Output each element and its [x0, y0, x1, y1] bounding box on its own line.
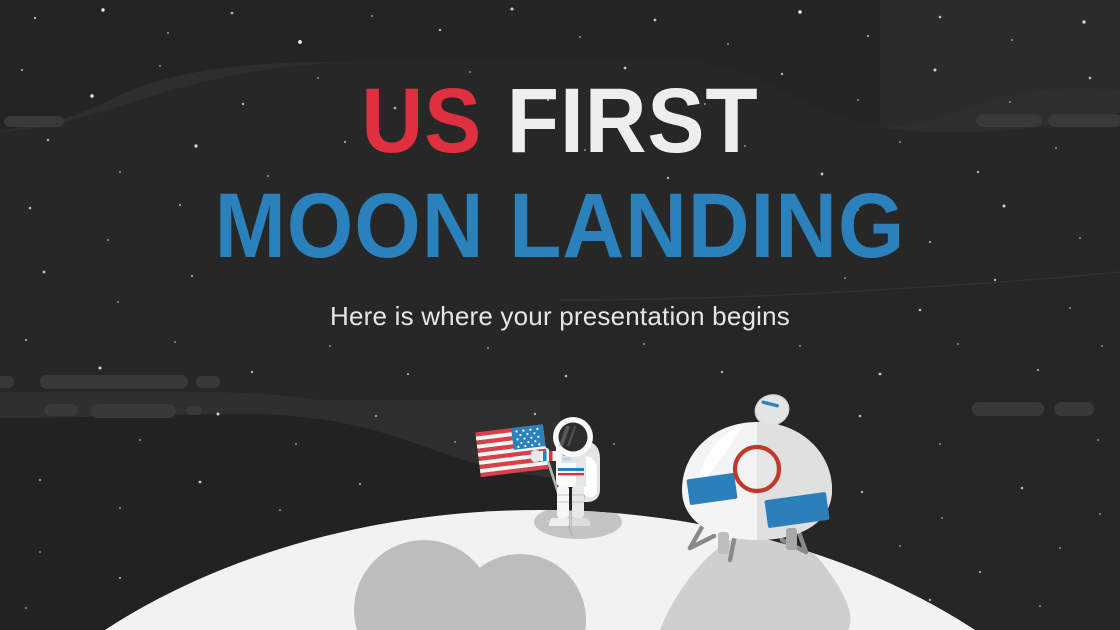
- lander-foot-stub: [718, 532, 729, 554]
- lunar-lander: [0, 0, 1120, 630]
- lander-foot-stub: [786, 528, 797, 550]
- title-slide: US FIRST MOON LANDING Here is where your…: [0, 0, 1120, 630]
